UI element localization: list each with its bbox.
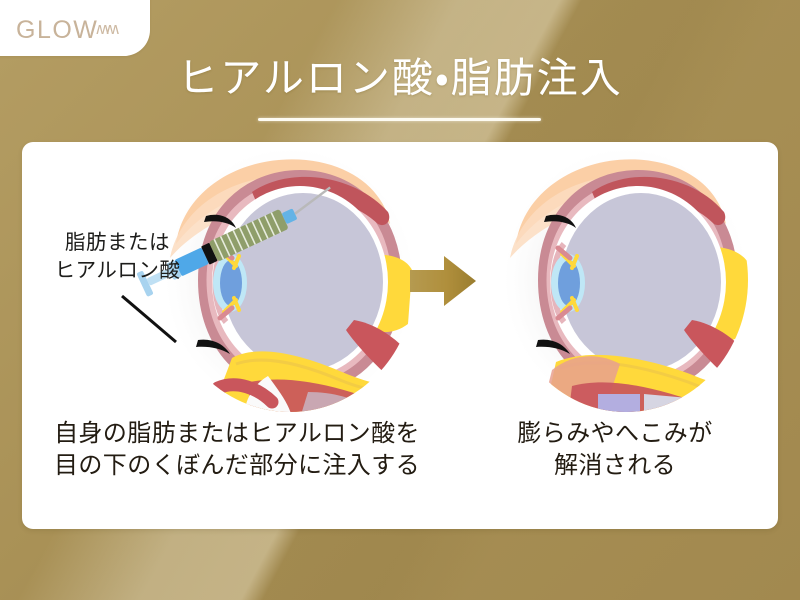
after-caption-line-2: 解消される — [452, 451, 778, 483]
after-panel: 膨らみやへこみが 解消される — [452, 142, 778, 529]
maxilla-bone-after — [644, 394, 710, 418]
annotation-line-1: 脂肪または — [30, 229, 205, 257]
after-caption-line-1: 膨らみやへこみが — [452, 419, 778, 451]
iris-lens — [220, 260, 242, 306]
orbital-bone — [300, 392, 376, 418]
before-caption: 自身の脂肪またはヒアルロン酸を 目の下のくぼんだ部分に注入する — [22, 419, 452, 482]
after-caption: 膨らみやへこみが 解消される — [452, 419, 778, 482]
before-panel: 脂肪または ヒアルロン酸 自身の脂肪またはヒアルロン酸を 目の下のくぼんだ部分に… — [22, 142, 452, 529]
orbital-bone-after — [598, 394, 640, 418]
eye-anatomy-after-svg — [494, 148, 759, 418]
annotation-leader-line — [118, 292, 188, 352]
before-caption-line-2: 目の下のくぼんだ部分に注入する — [22, 451, 452, 483]
iris-lens-after — [558, 260, 580, 306]
brand-name: GLOW — [16, 16, 98, 45]
slide-canvas: GLOWʍʍ ヒアルロン酸・脂肪注入 — [0, 0, 800, 600]
page-title: ヒアルロン酸・脂肪注入 — [0, 44, 800, 104]
eye-cross-section-after-figure — [494, 148, 759, 418]
brand-monogram-icon: ʍʍ — [96, 19, 117, 39]
title-underline-divider — [258, 118, 541, 121]
injection-material-annotation: 脂肪または ヒアルロン酸 — [30, 229, 205, 286]
before-caption-line-1: 自身の脂肪またはヒアルロン酸を — [22, 419, 452, 451]
content-card: 脂肪または ヒアルロン酸 自身の脂肪またはヒアルロン酸を 目の下のくぼんだ部分に… — [22, 142, 778, 529]
brand-logo: GLOWʍʍ — [16, 16, 117, 45]
annotation-line-2: ヒアルロン酸 — [30, 257, 205, 285]
